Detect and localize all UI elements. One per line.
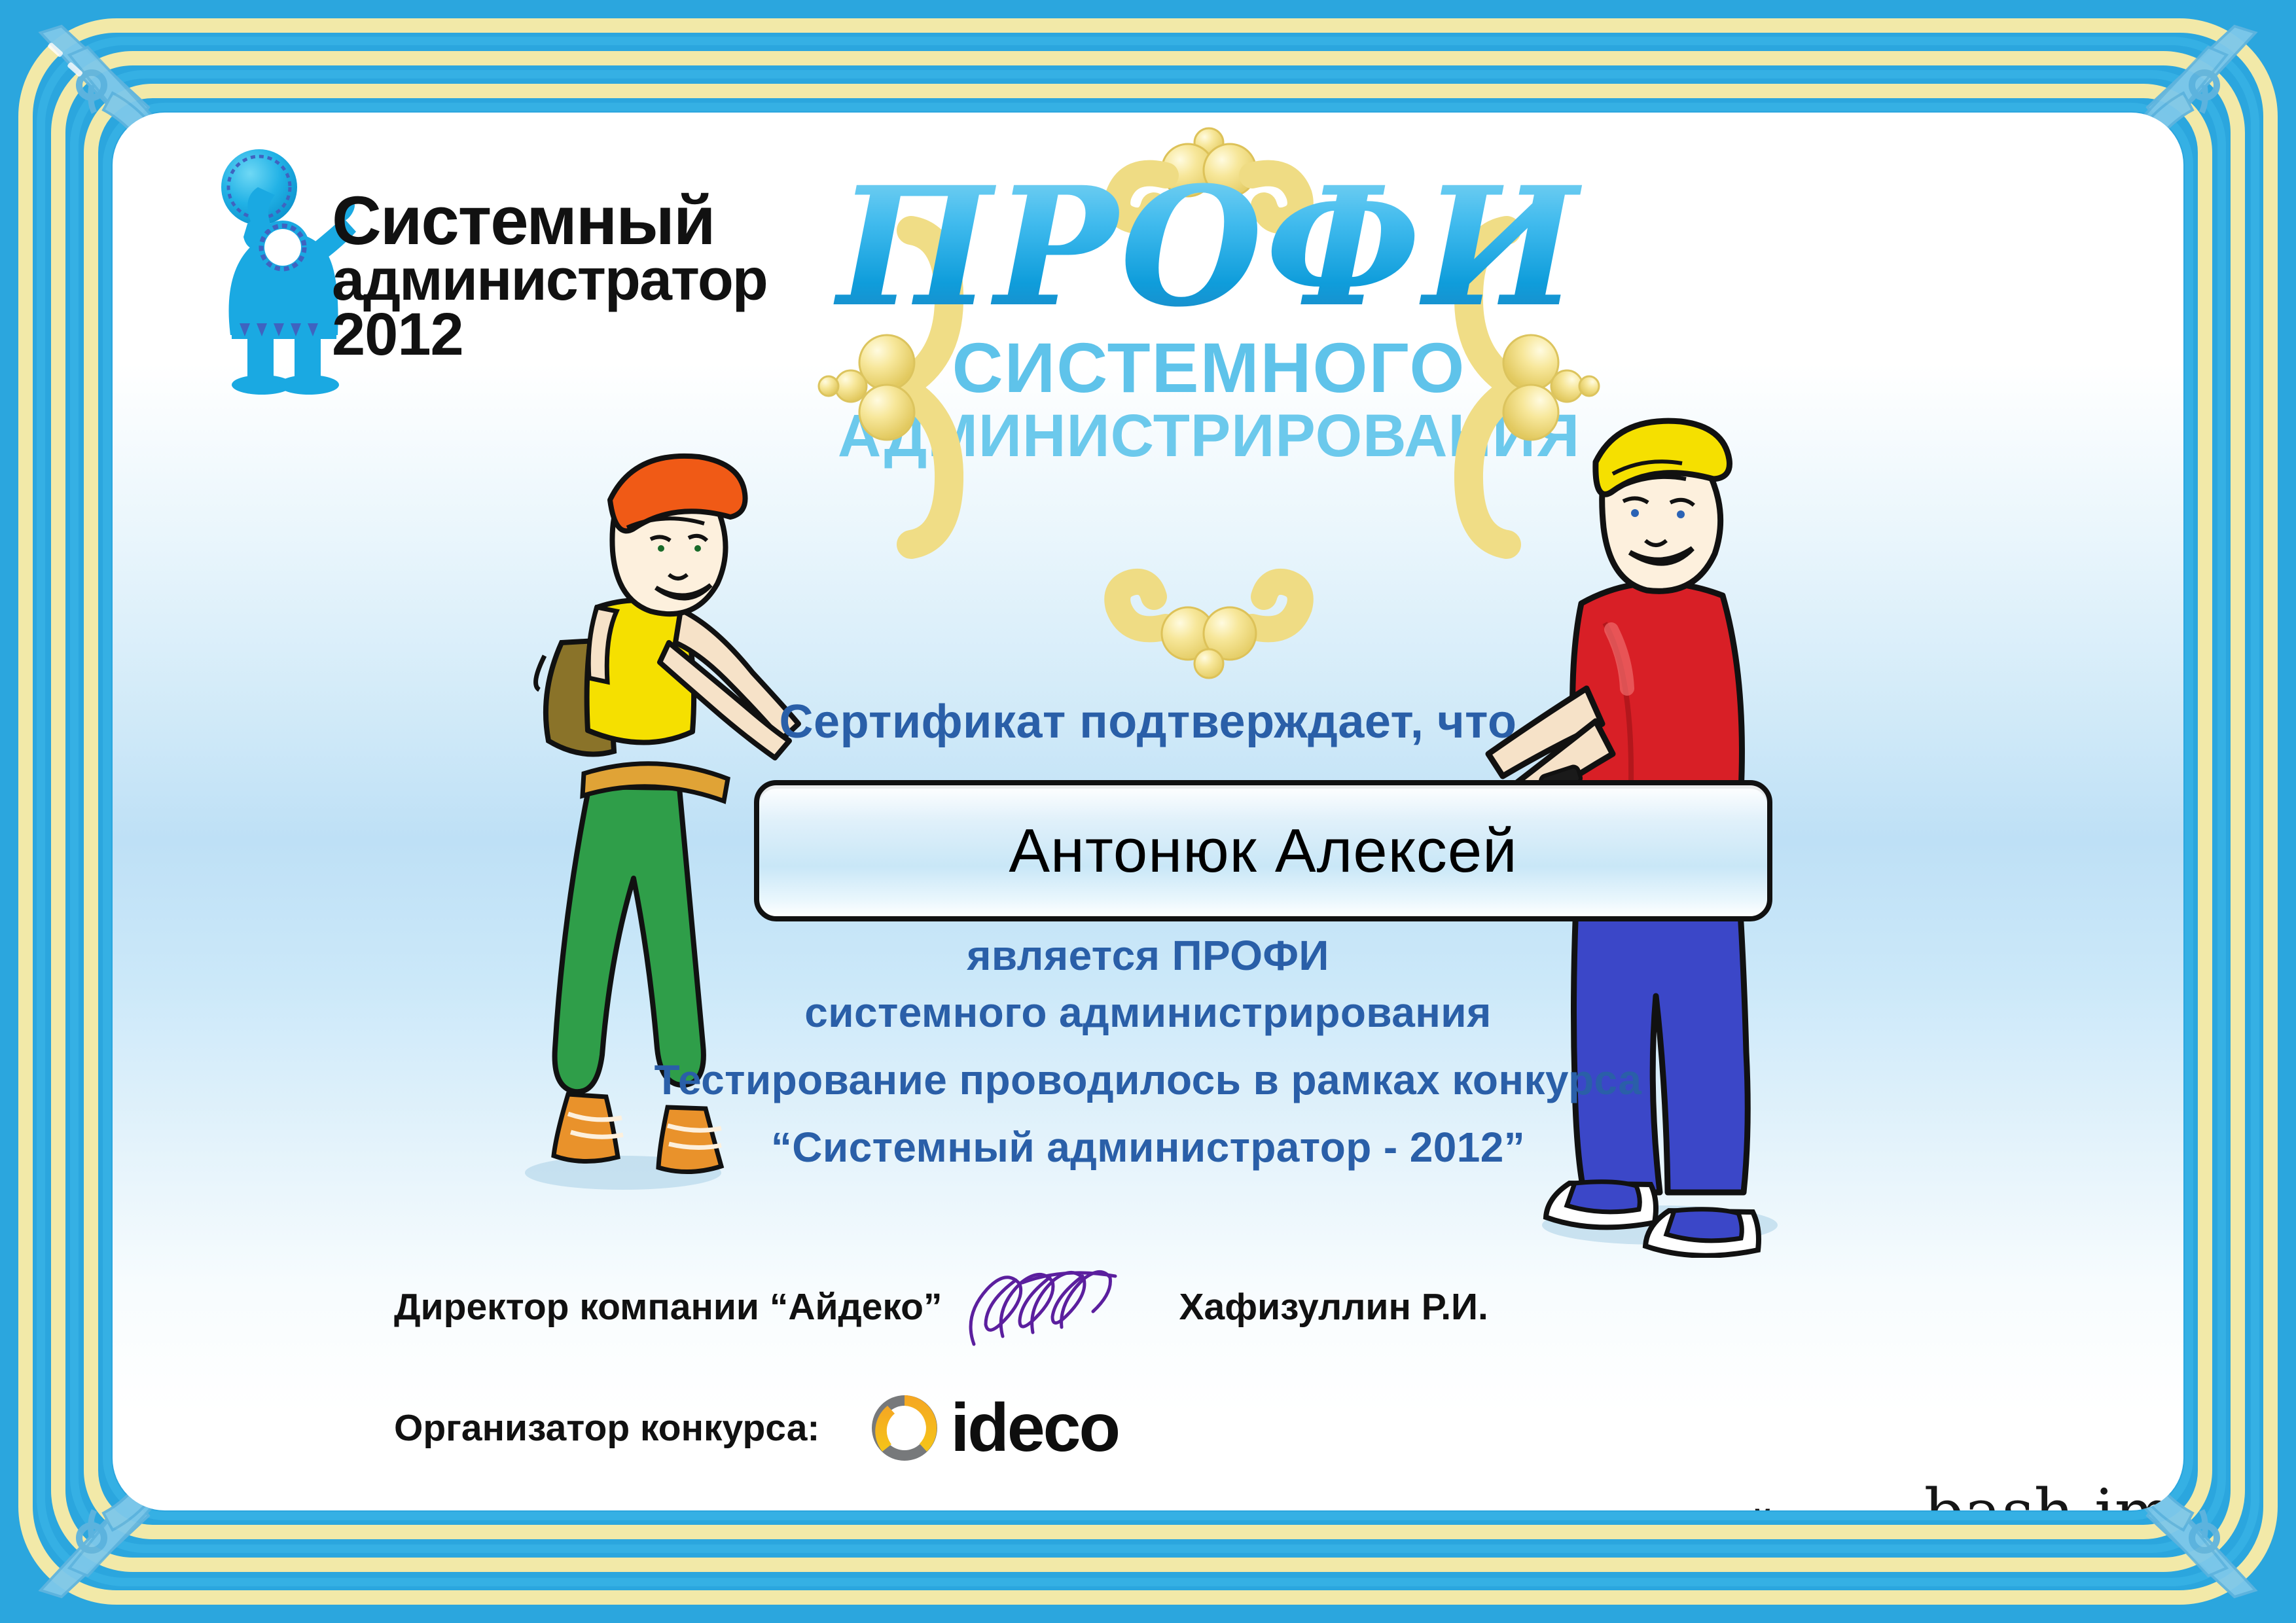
ideco-mark-icon (865, 1389, 944, 1467)
sysadmin-partner-line1-green: Си (1569, 1503, 1617, 1510)
contest-logo-line2: администратор (332, 253, 738, 308)
shield-icon (1251, 1508, 1302, 1510)
body-line-3: Тестирование проводилось в рамках конкур… (113, 1052, 2183, 1109)
gold-flourish-bottom-icon (1058, 564, 1359, 682)
title-subtitle-1: СИСТЕМНОГО (800, 332, 1618, 403)
sysadmin-partner-line1-black: стемный (1616, 1503, 1772, 1510)
sysadmin-partner-logo: Системный администратор (1569, 1507, 1842, 1510)
organizer-label: Организатор конкурса: (394, 1406, 819, 1450)
contest-logo-line1: Системный (332, 190, 738, 253)
certificate-body: Системный администратор 2012 (113, 113, 2183, 1510)
title-profi: ПРОФИ (800, 165, 1618, 329)
skydns-dns: DNS (1403, 1508, 1515, 1510)
skydns-sky: Sky (1309, 1508, 1403, 1510)
body-line-2: системного администрирования (113, 984, 2183, 1041)
handwritten-signature (960, 1264, 1143, 1349)
contest-logo-line3: 2012 (332, 307, 738, 363)
bashim-logo: bash.im ЦИТАТНИК РУНЕТА (1904, 1483, 2183, 1510)
signature-row: Директор компании “Айдеко” Хафизуллин Р.… (394, 1268, 1638, 1346)
certificate-document: Системный администратор 2012 (0, 0, 2296, 1623)
body-text: является ПРОФИ системного администрирова… (113, 927, 2183, 1176)
partners-row: Партнеры конкурса: KASPERSKY lab SkyDNS … (394, 1490, 2183, 1510)
sysadmin-partner-line1: Системный (1569, 1507, 1842, 1510)
recipient-nameplate: Антонюк Алексей (754, 780, 1772, 921)
ideco-wordmark: ideco (950, 1389, 1119, 1467)
signature-label: Директор компании “Айдеко” (394, 1285, 942, 1329)
contest-logo: Системный администратор 2012 (191, 139, 728, 479)
signatory-name: Хафизуллин Р.И. (1179, 1285, 1488, 1329)
recipient-name: Антонюк Алексей (1009, 815, 1517, 886)
body-line-4: “Системный администратор - 2012” (113, 1119, 2183, 1176)
ideco-logo: ideco (865, 1389, 1119, 1467)
bashim-wordmark: bash.im (1904, 1483, 2183, 1510)
body-line-1: является ПРОФИ (113, 927, 2183, 984)
confirm-line: Сертификат подтверждает, что (113, 695, 2183, 749)
organizer-row: Организатор конкурса: ideco (394, 1382, 1376, 1474)
skydns-logo: SkyDNS (1251, 1508, 1515, 1510)
